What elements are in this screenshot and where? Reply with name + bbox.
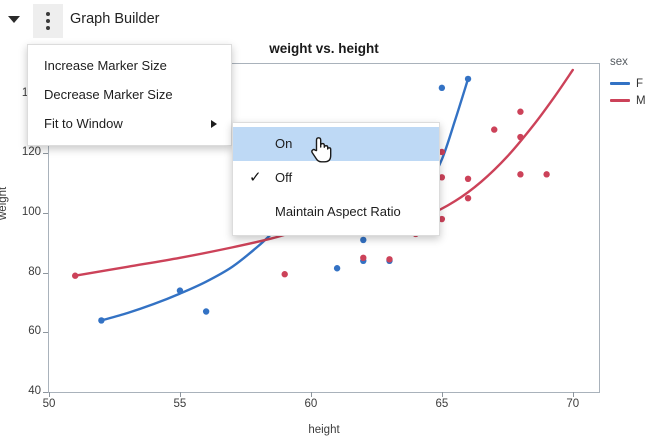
- data-point[interactable]: [334, 265, 340, 271]
- page-title: Graph Builder: [70, 11, 159, 27]
- data-point[interactable]: [517, 171, 523, 177]
- data-point[interactable]: [543, 171, 549, 177]
- data-point[interactable]: [203, 308, 209, 314]
- y-tick-label: 40: [4, 385, 41, 397]
- x-tick-mark: [180, 392, 181, 397]
- x-tick-mark: [311, 392, 312, 397]
- triangle-down-icon[interactable]: [8, 16, 20, 23]
- x-tick-label: 65: [417, 398, 467, 410]
- context-menu[interactable]: Increase Marker SizeDecrease Marker Size…: [27, 44, 232, 146]
- y-tick-label: 80: [4, 266, 41, 278]
- legend-title: sex: [610, 56, 662, 68]
- x-tick-mark: [573, 392, 574, 397]
- x-tick-mark: [442, 392, 443, 397]
- submenu-item[interactable]: ✓Off: [233, 161, 439, 195]
- submenu-item-label: On: [275, 136, 292, 151]
- data-point[interactable]: [360, 255, 366, 261]
- data-point[interactable]: [386, 256, 392, 262]
- y-tick-mark: [43, 273, 48, 274]
- legend-entry[interactable]: F: [610, 75, 662, 92]
- y-tick-mark: [43, 213, 48, 214]
- x-tick-label: 70: [548, 398, 598, 410]
- legend-label: F: [636, 78, 643, 90]
- menu-item-label: Fit to Window: [44, 116, 123, 131]
- kebab-dot: [46, 12, 50, 16]
- legend-label: M: [636, 95, 646, 107]
- legend-entry[interactable]: M: [610, 92, 662, 109]
- submenu-item-label: Maintain Aspect Ratio: [275, 204, 401, 219]
- data-point[interactable]: [517, 134, 523, 140]
- legend: sex FM: [610, 56, 662, 109]
- checkmark-icon: ✓: [249, 161, 262, 195]
- x-tick-mark: [49, 392, 50, 397]
- kebab-dot: [46, 19, 50, 23]
- y-tick-mark: [43, 332, 48, 333]
- data-point[interactable]: [465, 176, 471, 182]
- x-tick-label: 50: [24, 398, 74, 410]
- menu-item-label: Increase Marker Size: [44, 58, 167, 73]
- y-tick-label: 60: [4, 325, 41, 337]
- menu-item[interactable]: Fit to Window: [28, 109, 231, 138]
- y-tick-label: 120: [4, 146, 41, 158]
- y-tick-mark: [43, 153, 48, 154]
- x-axis-label: height: [48, 424, 600, 436]
- menu-item-label: Decrease Marker Size: [44, 87, 173, 102]
- x-tick-label: 55: [155, 398, 205, 410]
- fit-to-window-submenu[interactable]: On✓OffMaintain Aspect Ratio: [232, 122, 440, 236]
- menu-item[interactable]: Increase Marker Size: [28, 51, 231, 80]
- submenu-item-label: Off: [275, 170, 292, 185]
- data-point[interactable]: [282, 271, 288, 277]
- submenu-item[interactable]: Maintain Aspect Ratio: [233, 195, 439, 229]
- y-axis-label: weight: [0, 187, 9, 220]
- data-point[interactable]: [177, 287, 183, 293]
- caret-right-icon: [211, 120, 217, 128]
- data-point[interactable]: [360, 237, 366, 243]
- legend-swatch: [610, 82, 630, 85]
- submenu-item[interactable]: On: [233, 127, 439, 161]
- y-tick-mark: [43, 392, 48, 393]
- data-point[interactable]: [465, 195, 471, 201]
- y-tick-label: 100: [4, 206, 41, 218]
- data-point[interactable]: [491, 126, 497, 132]
- legend-swatch: [610, 99, 630, 102]
- data-point[interactable]: [465, 76, 471, 82]
- data-point[interactable]: [439, 85, 445, 91]
- kebab-dot: [46, 26, 50, 30]
- data-point[interactable]: [98, 317, 104, 323]
- data-point[interactable]: [72, 273, 78, 279]
- menu-item[interactable]: Decrease Marker Size: [28, 80, 231, 109]
- data-point[interactable]: [517, 109, 523, 115]
- x-tick-label: 60: [286, 398, 336, 410]
